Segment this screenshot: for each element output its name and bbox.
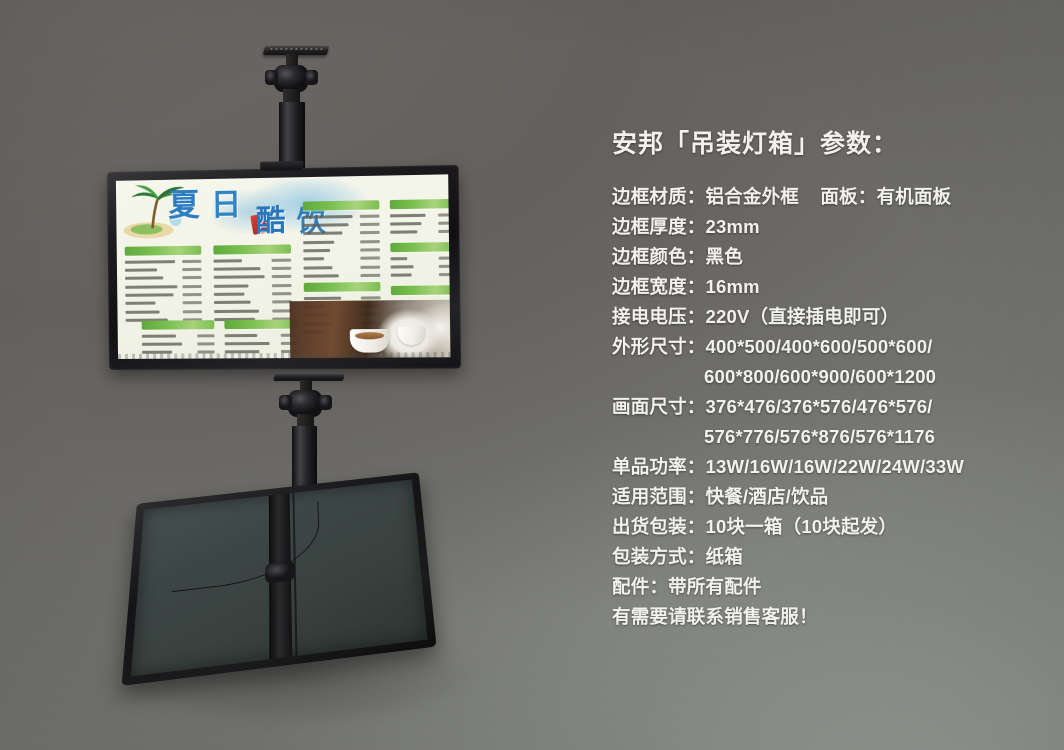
pivot-joint xyxy=(274,65,308,92)
menu-board-panel: 夏 日 酷 饮 xyxy=(116,174,451,359)
menu-column-mid-top xyxy=(303,200,381,282)
menu-section-header xyxy=(303,200,380,210)
spec-line-frame-material: 边框材质：铝合金外框 面板：有机面板 xyxy=(612,182,1042,212)
spec-line-contact: 有需要请联系销售客服！ xyxy=(612,602,1042,632)
specifications-block: 安邦「吊装灯箱」参数： 边框材质：铝合金外框 面板：有机面板 边框厚度：23mm… xyxy=(612,124,1042,632)
specs-title: 安邦「吊装灯箱」参数： xyxy=(612,124,1042,160)
specs-lines: 边框材质：铝合金外框 面板：有机面板 边框厚度：23mm 边框颜色：黑色 边框宽… xyxy=(612,182,1042,632)
menu-section-header xyxy=(390,242,450,252)
lower-pivot-joint xyxy=(288,390,322,417)
pivot-knob-right xyxy=(305,70,318,85)
menu-section-header xyxy=(391,285,451,295)
menu-section-header xyxy=(125,246,202,256)
pivot-knob-left xyxy=(265,70,278,85)
menu-watermark-strip xyxy=(118,352,450,359)
spec-line-outer-size-continued: 600*800/600*900/600*1200 xyxy=(612,362,1042,392)
menu-column-left-2 xyxy=(213,244,292,325)
spec-line-frame-thickness: 边框厚度：23mm xyxy=(612,212,1042,242)
power-cable xyxy=(172,502,321,592)
back-panel-frame xyxy=(122,472,437,686)
spec-line-shipping-pack: 出货包装：10块一箱（10块起发） xyxy=(612,512,1042,542)
menu-section-header xyxy=(224,319,298,329)
menu-section-header xyxy=(142,320,215,330)
spec-line-frame-width: 边框宽度：16mm xyxy=(612,272,1042,302)
headline-char-2: 日 xyxy=(211,191,242,222)
spec-line-picture-size-continued: 576*776/576*876/576*1176 xyxy=(612,422,1042,452)
spec-line-frame-color: 边框颜色：黑色 xyxy=(612,242,1042,272)
menu-section-header xyxy=(304,282,381,292)
spec-line-power: 单品功率：13W/16W/16W/22W/24W/33W xyxy=(612,452,1042,482)
coffee-photo xyxy=(290,300,451,358)
spec-line-application: 适用范围：快餐/酒店/饮品 xyxy=(612,482,1042,512)
spec-line-outer-size: 外形尺寸：400*500/400*600/500*600/ xyxy=(612,332,1042,362)
menu-section-header xyxy=(390,199,451,209)
lightbox-aluminium-frame: 夏 日 酷 饮 xyxy=(107,165,461,370)
headline-char-3: 酷 xyxy=(256,206,286,236)
lower-pivot-knob-right xyxy=(319,395,332,410)
spec-line-voltage: 接电电压：220V（直接插电即可） xyxy=(612,302,1042,332)
back-panel-face xyxy=(131,480,428,677)
headline-char-1: 夏 xyxy=(168,190,200,222)
coffee-cup-large xyxy=(350,329,390,353)
lightbox-back-unlit xyxy=(122,472,437,686)
lightbox-front-lit: 夏 日 酷 饮 xyxy=(107,165,461,370)
spec-line-package-type: 包装方式：纸箱 xyxy=(612,542,1042,572)
menu-section-header xyxy=(213,244,291,254)
menu-column-right-mid xyxy=(390,242,450,281)
menu-column-left-1 xyxy=(125,246,202,326)
spec-line-accessories: 配件：带所有配件 xyxy=(612,572,1042,602)
coffee-cup-small xyxy=(398,327,425,346)
product-photo-stage: 夏 日 酷 饮 xyxy=(0,0,1064,750)
menu-column-right-top xyxy=(390,199,451,238)
lightbox-hanger-bracket xyxy=(260,161,303,171)
lower-pivot-knob-left xyxy=(279,395,292,410)
spec-line-picture-size: 画面尺寸：376*476/376*576/476*576/ xyxy=(612,392,1042,422)
